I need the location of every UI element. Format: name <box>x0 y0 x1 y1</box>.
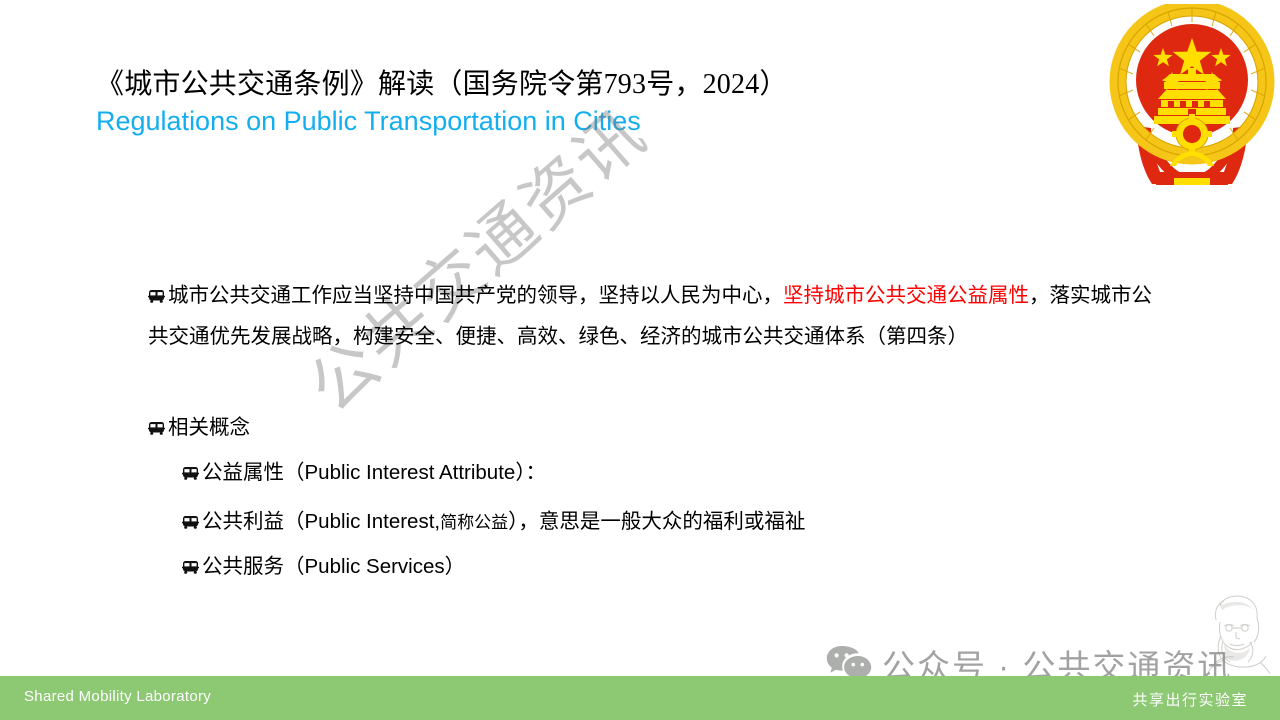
list-item-zh: 公共服务（ <box>202 556 305 578</box>
list-item-en: Public Interest Attribute <box>305 461 516 484</box>
list-item-tail: ），意思是一般大众的福利或福祉 <box>508 511 805 533</box>
bus-icon <box>182 560 199 575</box>
list-item: 公共利益（Public Interest,简称公益），意思是一般大众的福利或福祉 <box>182 508 805 537</box>
list-item-zh: 公共利益（ <box>202 511 305 533</box>
list-item-tail: ） <box>445 556 466 578</box>
paragraph-highlight: 坚持城市公共交通公益属性 <box>783 285 1029 307</box>
list-item-en: Public Services <box>305 555 445 578</box>
section-heading: 相关概念 <box>148 414 250 442</box>
bus-icon <box>148 421 165 436</box>
list-item: 公共服务（Public Services） <box>182 553 465 581</box>
footer-right-label: 共享出行实验室 <box>1132 689 1248 710</box>
bus-icon <box>148 289 165 304</box>
list-item-en: Public Interest, <box>305 510 441 533</box>
slide-body: 城市公共交通工作应当坚持中国共产党的领导，坚持以人民为中心，坚持城市公共交通公益… <box>0 0 1280 660</box>
list-item-en-small: 简称公益 <box>440 513 508 532</box>
bus-icon <box>182 466 199 481</box>
paragraph-part1: 城市公共交通工作应当坚持中国共产党的领导，坚持以人民为中心， <box>168 285 783 307</box>
list-item: 公益属性（Public Interest Attribute）： <box>182 459 546 487</box>
main-paragraph: 城市公共交通工作应当坚持中国共产党的领导，坚持以人民为中心，坚持城市公共交通公益… <box>148 276 1172 358</box>
list-item-zh: 公益属性（ <box>202 462 305 484</box>
list-item-tail: ）： <box>515 462 546 484</box>
slide-canvas: 《城市公共交通条例》解读（国务院令第793号，2024） Regulations… <box>0 0 1280 720</box>
footer-bar: Shared Mobility Laboratory 共享出行实验室 <box>0 676 1280 720</box>
section-label: 相关概念 <box>168 417 250 439</box>
bus-icon <box>182 515 199 530</box>
footer-left-label: Shared Mobility Laboratory <box>24 688 211 705</box>
